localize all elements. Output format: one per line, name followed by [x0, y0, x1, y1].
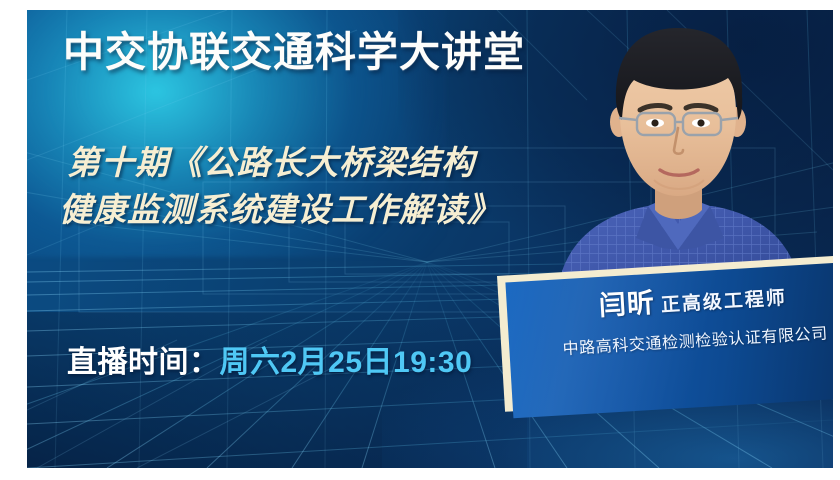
speaker-rank: 正高级工程师	[660, 288, 787, 316]
subtitle-line-1: 第十期《公路长大桥梁结构	[67, 144, 475, 181]
poster-frame: 中交协联交通科学大讲堂 第十期《公路长大桥梁结构 健康监测系统建设工作解读》 直…	[0, 0, 840, 480]
subtitle-line-2: 健康监测系统建设工作解读》	[59, 187, 597, 234]
poster-banner: 中交协联交通科学大讲堂 第十期《公路长大桥梁结构 健康监测系统建设工作解读》 直…	[27, 10, 833, 468]
name-card-body: 闫昕正高级工程师 中路高科交通检测检验认证有限公司	[505, 260, 833, 418]
speaker-identity-row: 闫昕正高级工程师	[506, 276, 833, 325]
speaker-name: 闫昕	[598, 288, 656, 321]
live-time-row: 直播时间：周六2月25日19:30	[67, 337, 472, 381]
speaker-organization: 中路高科交通检测检验认证有限公司	[509, 316, 833, 362]
live-time-value: 周六2月25日19:30	[220, 346, 473, 379]
live-time-label: 直播时间：	[67, 346, 220, 379]
speaker-name-card: 闫昕正高级工程师 中路高科交通检测检验认证有限公司	[497, 252, 833, 435]
page-title: 中交协联交通科学大讲堂	[63, 30, 525, 75]
poster-subtitle: 第十期《公路长大桥梁结构 健康监测系统建设工作解读》	[67, 140, 597, 234]
